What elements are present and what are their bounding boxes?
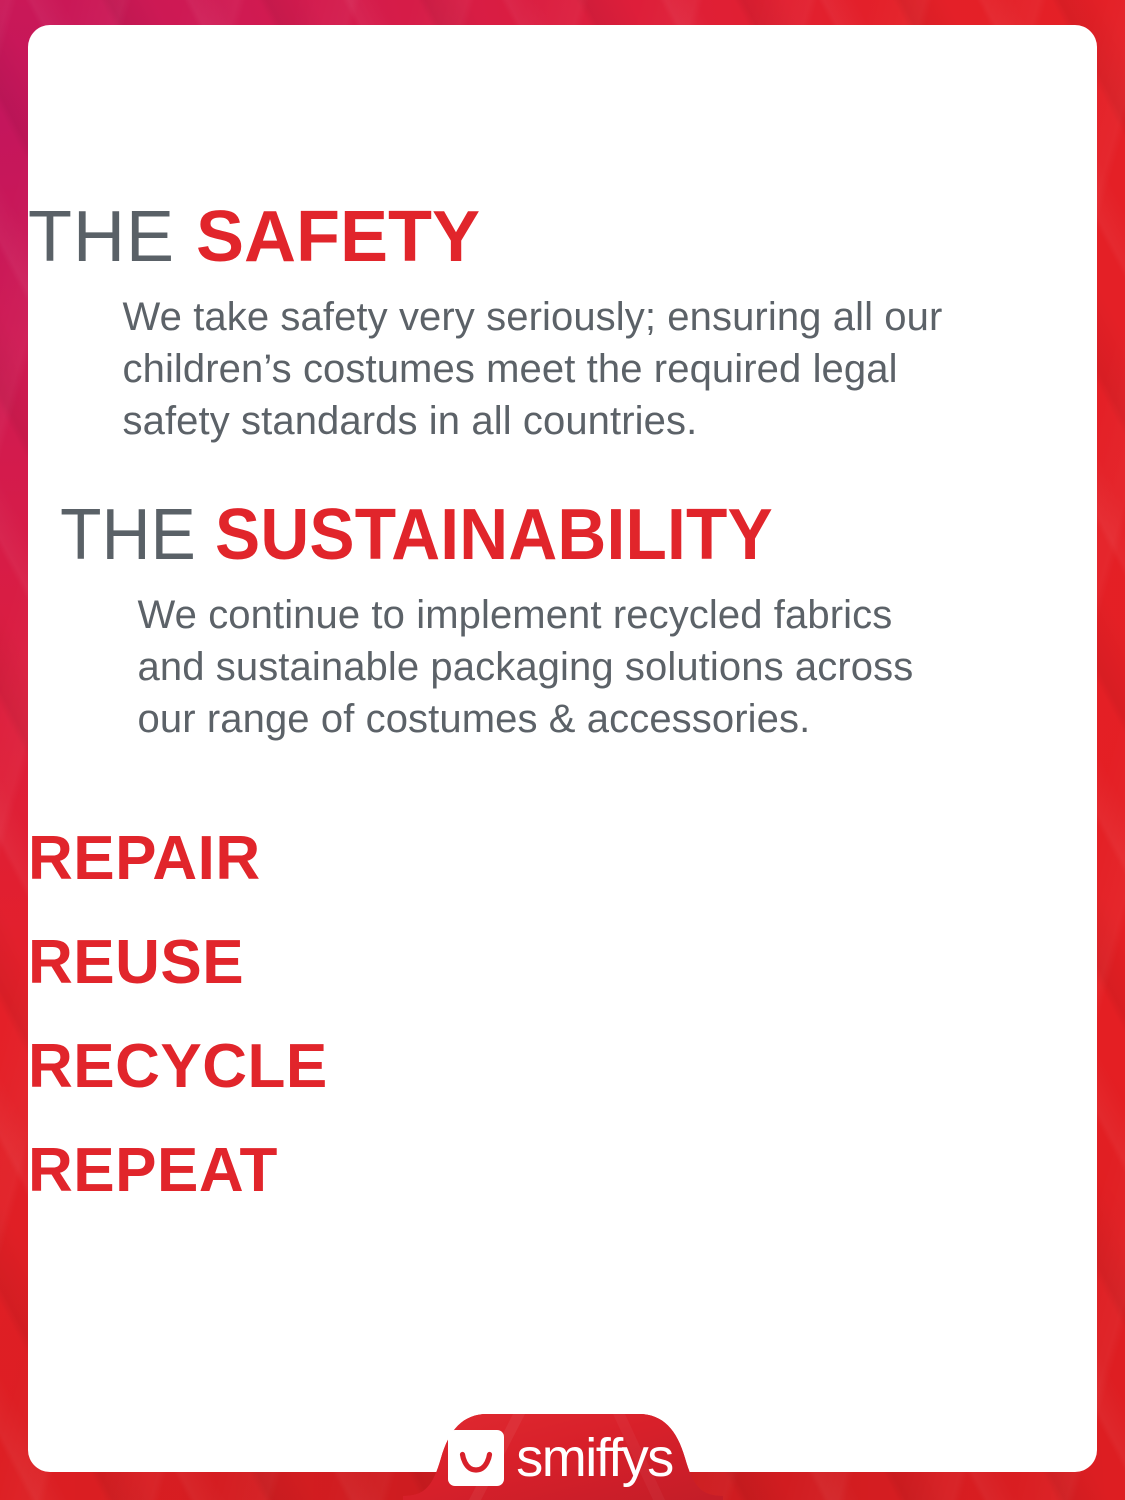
sustainability-heading-accent: SUSTAINABILITY bbox=[215, 495, 773, 575]
content-card: THE SAFETY We take safety very seriously… bbox=[28, 25, 1097, 1472]
section-sustainability: THE SUSTAINABILITY We continue to implem… bbox=[28, 499, 1097, 745]
sustainability-body-line-1: We continue to implement recycled fabric… bbox=[138, 593, 893, 637]
safety-body: We take safety very seriously; ensuring … bbox=[123, 291, 1003, 447]
section-mantra: REPAIR REUSE RECYCLE REPEAT bbox=[28, 807, 1097, 1223]
section-safety: THE SAFETY We take safety very seriously… bbox=[28, 201, 1097, 447]
safety-heading-accent: SAFETY bbox=[196, 197, 480, 277]
safety-heading-prefix: THE bbox=[28, 197, 175, 277]
footer-brand-tab bbox=[403, 1400, 723, 1500]
safety-body-line-1: We take safety very seriously; ensuring … bbox=[123, 295, 943, 339]
safety-body-line-2: children’s costumes meet the required le… bbox=[123, 347, 898, 391]
poster-canvas: THE SAFETY We take safety very seriously… bbox=[0, 0, 1125, 1500]
sustainability-heading-prefix: THE bbox=[60, 495, 196, 575]
mantra-word-repair: REPAIR bbox=[28, 807, 1097, 911]
sustainability-body-line-2: and sustainable packaging solutions acro… bbox=[138, 645, 914, 689]
sustainability-body: We continue to implement recycled fabric… bbox=[138, 589, 988, 745]
mantra-word-reuse: REUSE bbox=[28, 911, 1097, 1015]
safety-heading: THE SAFETY bbox=[28, 201, 1097, 273]
mantra-word-repeat: REPEAT bbox=[28, 1119, 1097, 1223]
sustainability-heading: THE SUSTAINABILITY bbox=[60, 499, 1065, 571]
sustainability-body-line-3: our range of costumes & accessories. bbox=[138, 697, 811, 741]
footer-tab-shape bbox=[403, 1400, 723, 1500]
mantra-word-recycle: RECYCLE bbox=[28, 1015, 1097, 1119]
safety-body-line-3: safety standards in all countries. bbox=[123, 399, 698, 443]
